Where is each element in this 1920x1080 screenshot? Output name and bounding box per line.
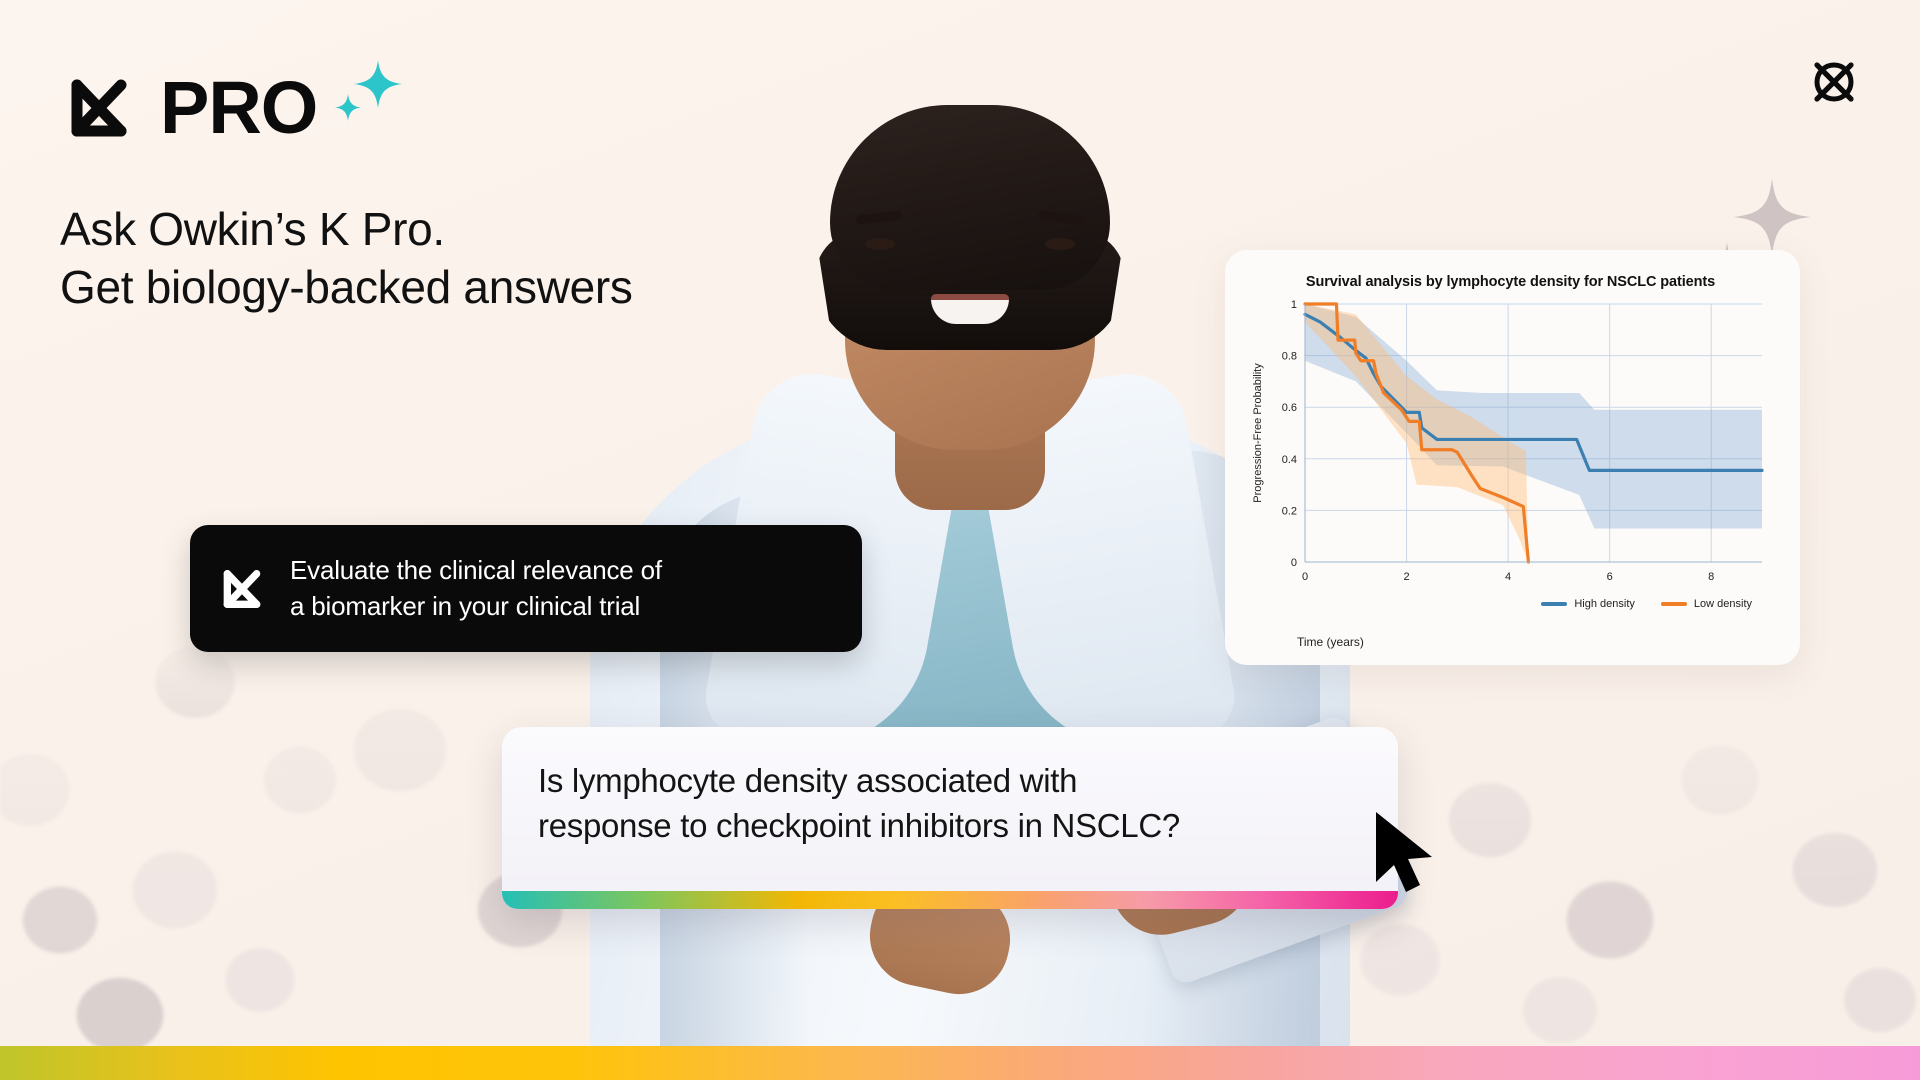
- legend-item: Low density: [1661, 598, 1752, 610]
- svg-text:0.2: 0.2: [1282, 505, 1297, 517]
- prompt-line-1: Evaluate the clinical relevance of: [290, 553, 662, 588]
- eye-right: [1045, 238, 1075, 250]
- owkin-target-icon[interactable]: [1806, 54, 1862, 110]
- page-title: Ask Owkin’s K Pro. Get biology-backed an…: [60, 200, 633, 317]
- svg-text:0: 0: [1302, 571, 1308, 583]
- question-input-card[interactable]: Is lymphocyte density associated with re…: [502, 727, 1398, 909]
- svg-text:4: 4: [1505, 571, 1511, 583]
- headline-line-1: Ask Owkin’s K Pro.: [60, 200, 633, 258]
- k-logo-icon: [216, 558, 268, 620]
- footer-gradient-bar: [0, 1046, 1920, 1080]
- headline-line-2: Get biology-backed answers: [60, 258, 633, 316]
- eye-left: [865, 238, 895, 250]
- question-line-1: Is lymphocyte density associated with: [538, 759, 1358, 804]
- question-card-accent-bar: [502, 891, 1398, 909]
- svg-text:2: 2: [1403, 571, 1409, 583]
- svg-text:Progression-Free Probability: Progression-Free Probability: [1252, 363, 1264, 503]
- legend-label: Low density: [1694, 598, 1752, 610]
- svg-text:0.6: 0.6: [1282, 402, 1297, 414]
- prompt-card-text: Evaluate the clinical relevance of a bio…: [290, 553, 662, 623]
- chart-plot-area: 00.20.40.60.8102468Progression-Free Prob…: [1247, 296, 1774, 596]
- svg-text:1: 1: [1291, 299, 1297, 311]
- logo-wordmark: PRO: [160, 71, 317, 145]
- chart-title: Survival analysis by lymphocyte density …: [1247, 274, 1774, 290]
- legend-swatch-high-density: [1541, 602, 1567, 606]
- question-line-2: response to checkpoint inhibitors in NSC…: [538, 804, 1358, 849]
- sparkle-icon: [328, 54, 408, 134]
- hair: [830, 105, 1110, 290]
- prompt-suggestion-card[interactable]: Evaluate the clinical relevance of a bio…: [190, 525, 862, 652]
- question-text: Is lymphocyte density associated with re…: [502, 727, 1398, 849]
- mouse-pointer-icon: [1372, 810, 1438, 896]
- mouth: [931, 294, 1009, 324]
- chart-x-axis-title: Time (years): [1297, 635, 1364, 649]
- survival-chart-card: Survival analysis by lymphocyte density …: [1225, 250, 1800, 665]
- legend-label: High density: [1574, 598, 1635, 610]
- svg-text:0: 0: [1291, 557, 1297, 569]
- brand-logo[interactable]: PRO: [60, 62, 317, 154]
- chart-svg: 00.20.40.60.8102468Progression-Free Prob…: [1247, 296, 1774, 596]
- k-pro-logo-icon: [60, 62, 138, 154]
- legend-swatch-low-density: [1661, 602, 1687, 606]
- svg-text:6: 6: [1607, 571, 1613, 583]
- svg-text:8: 8: [1708, 571, 1714, 583]
- legend-item: High density: [1541, 598, 1635, 610]
- svg-text:0.8: 0.8: [1282, 351, 1297, 363]
- prompt-line-2: a biomarker in your clinical trial: [290, 589, 662, 624]
- chart-legend: High density Low density: [1247, 598, 1774, 610]
- svg-text:0.4: 0.4: [1282, 454, 1297, 466]
